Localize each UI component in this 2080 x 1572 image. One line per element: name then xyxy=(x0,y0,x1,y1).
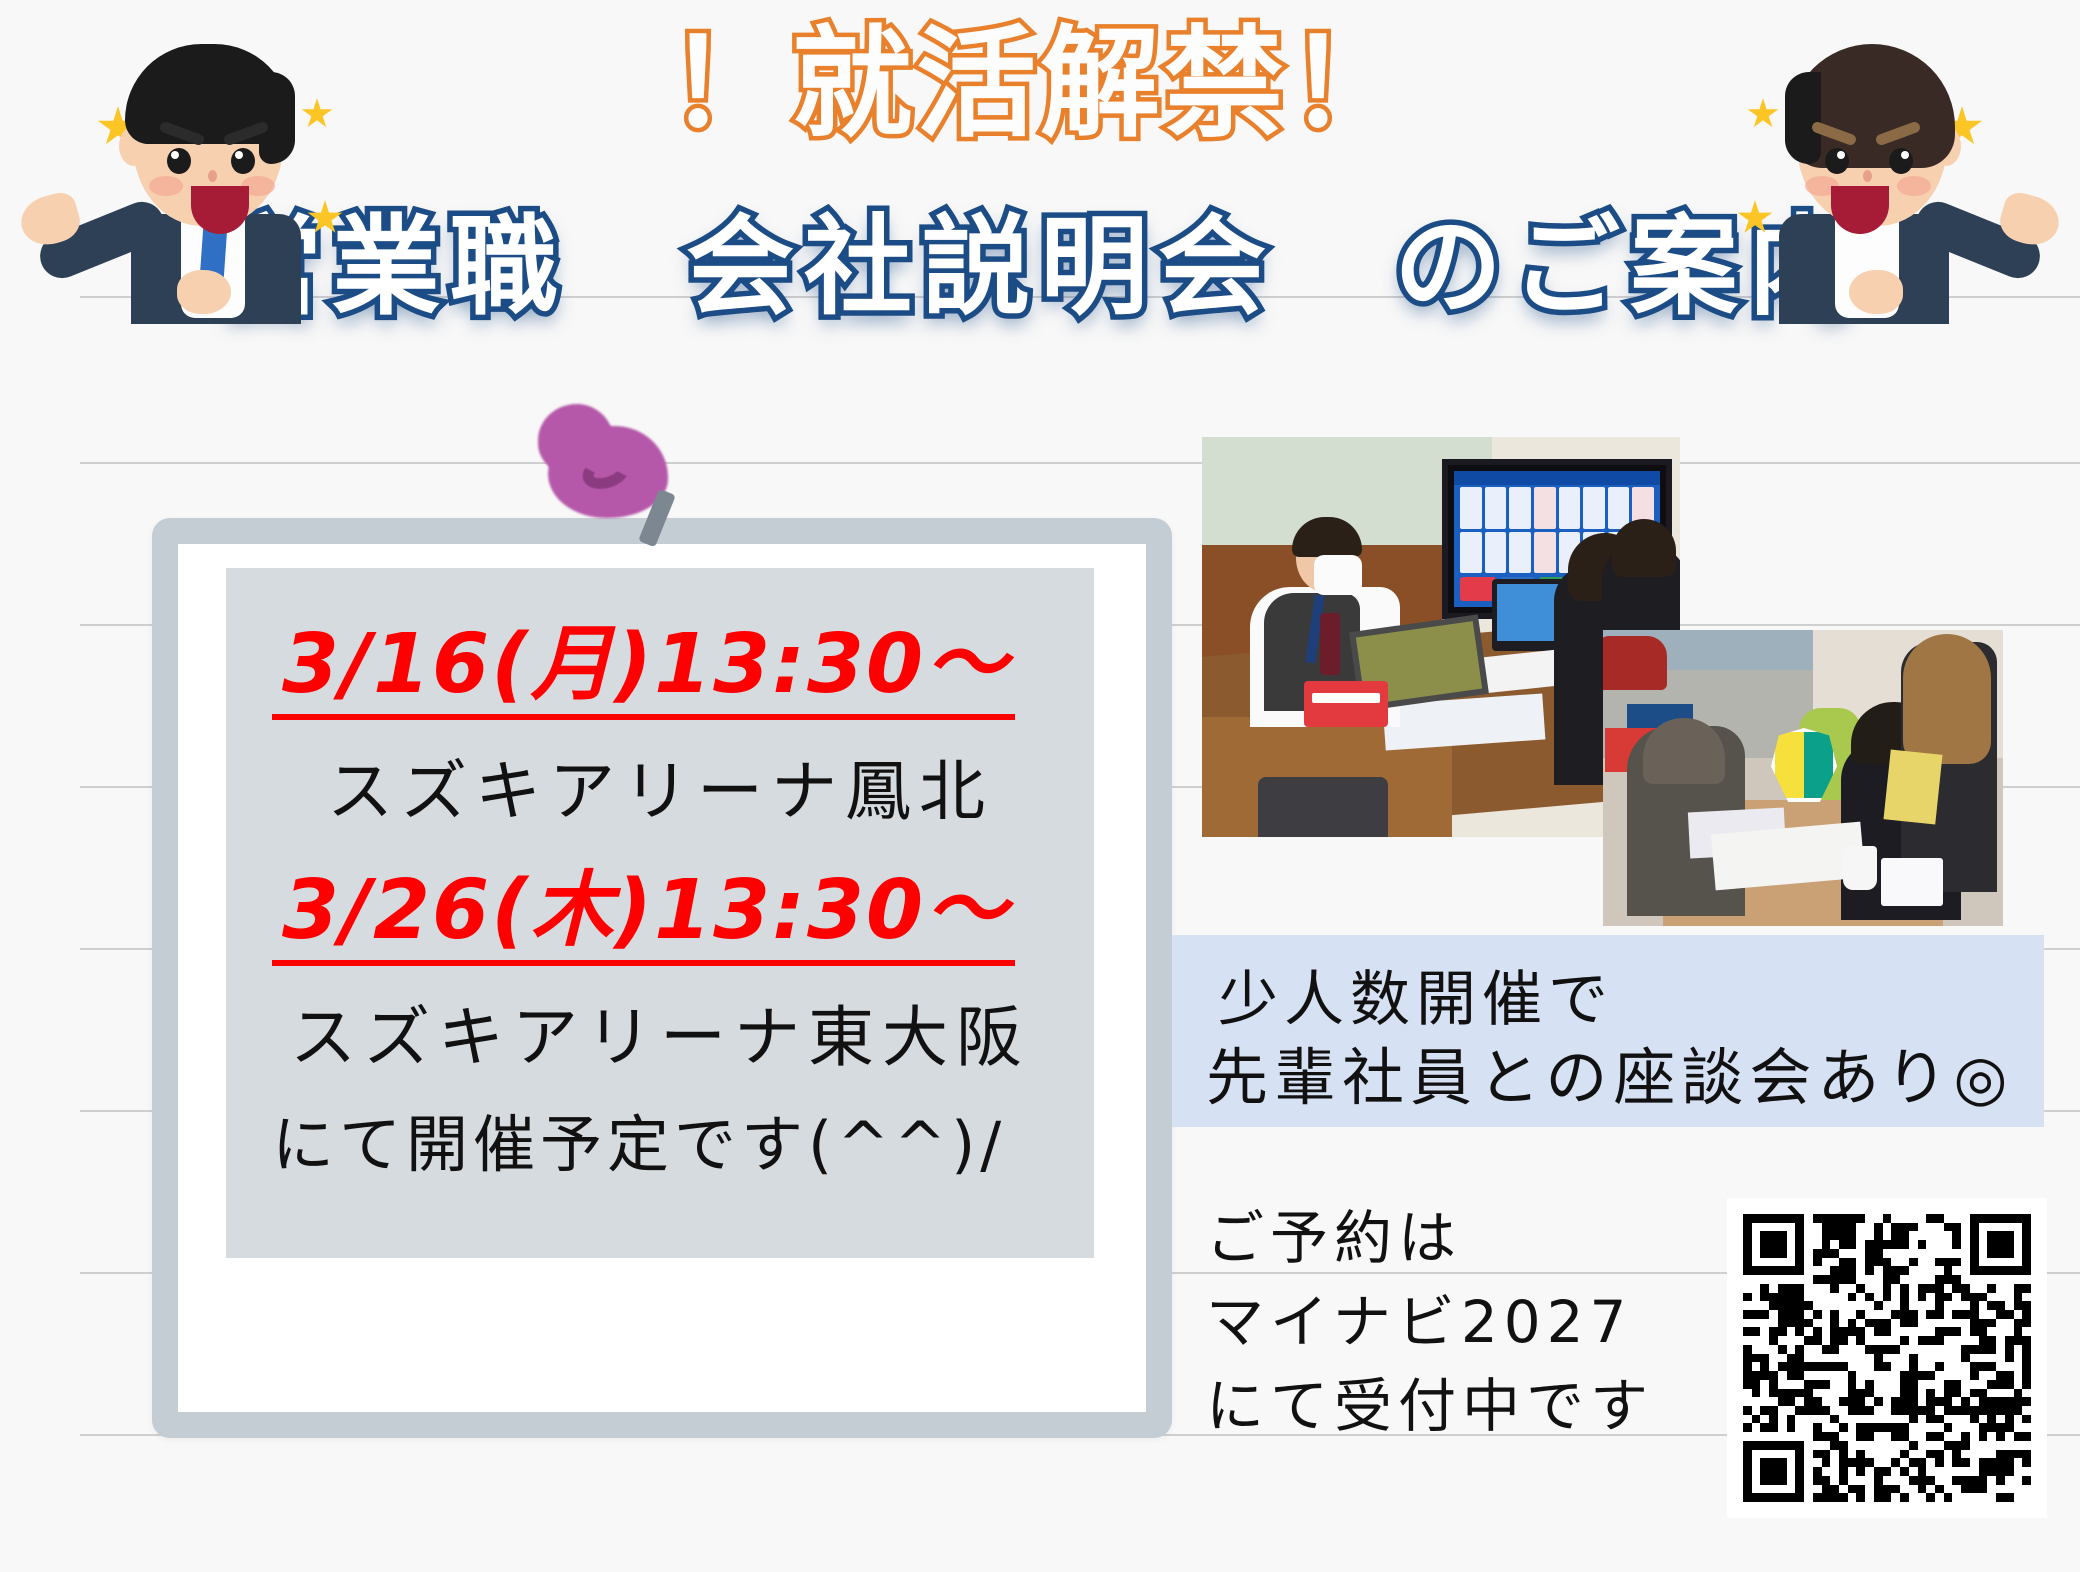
background-rule-line xyxy=(80,462,2080,464)
push-pin-icon xyxy=(538,404,698,554)
session-place: スズキアリーナ鳳北 xyxy=(272,738,1048,834)
character-eye xyxy=(231,148,255,174)
character-eye xyxy=(1889,148,1913,174)
character-hand xyxy=(1849,270,1903,314)
booking-info: ご予約は マイナビ2027 にて受付中です xyxy=(1206,1196,1654,1448)
info-panel-line-1: 少人数開催で xyxy=(1218,951,1614,1038)
memo-closing-note: にて開催予定です(^^)/ xyxy=(272,1094,1048,1184)
businessman-illustration xyxy=(45,18,345,308)
poster-canvas: ！就活解禁！ 営業職 会社説明会 のご案内 xyxy=(0,0,2080,1572)
booking-line-3: にて受付中です xyxy=(1206,1364,1654,1448)
character-hand xyxy=(177,270,231,314)
character-nose xyxy=(208,170,217,182)
staff-counselling-photo xyxy=(1603,630,2003,926)
character-hair xyxy=(1789,44,1955,168)
session-2: 3/26(木)13:30〜 スズキアリーナ東大阪 xyxy=(272,870,1048,1080)
booking-line-1: ご予約は xyxy=(1206,1196,1654,1280)
character-cheek xyxy=(1897,176,1931,196)
qr-code[interactable] xyxy=(1727,1198,2047,1518)
memo-card: 3/16(月)13:30〜 スズキアリーナ鳳北 3/26(木)13:30〜 スズ… xyxy=(226,568,1094,1258)
businesswoman-illustration xyxy=(1735,18,2035,308)
character-cheek xyxy=(149,176,183,196)
booking-line-2: マイナビ2027 xyxy=(1206,1280,1654,1364)
character-nose xyxy=(1863,170,1872,182)
character-eye xyxy=(167,148,191,174)
session-date: 3/16(月)13:30〜 xyxy=(272,624,1015,720)
info-panel: 少人数開催で 先輩社員との座談会あり◎ xyxy=(1172,935,2044,1127)
session-1: 3/16(月)13:30〜 スズキアリーナ鳳北 xyxy=(272,624,1048,834)
character-eye xyxy=(1825,148,1849,174)
session-place: スズキアリーナ東大阪 xyxy=(272,984,1048,1080)
session-date: 3/26(木)13:30〜 xyxy=(272,870,1015,966)
info-panel-line-2: 先輩社員との座談会あり◎ xyxy=(1206,1027,2013,1117)
